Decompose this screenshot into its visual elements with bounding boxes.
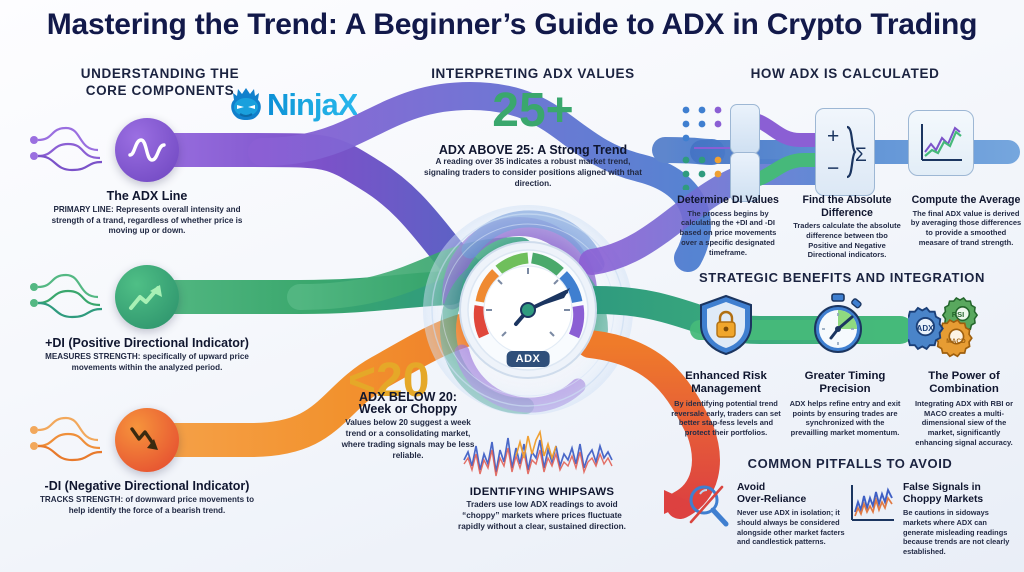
line-chart-box: [908, 110, 974, 176]
plus-di-title: +DI (Positive Directional Indicator): [22, 336, 272, 350]
stopwatch-icon: [809, 292, 867, 356]
section-header-interpreting: INTERPRETING ADX VALUES: [408, 66, 658, 83]
node-plus-di[interactable]: +DI (Positive Directional Indicator) MEA…: [22, 265, 272, 373]
pitfall-2-title-line1: False Signals in: [903, 482, 1016, 494]
volatility-chart-icon: [462, 428, 622, 484]
brand-wordmark: NinjaX: [267, 87, 357, 123]
strategic-benefits-triad: Enhanced Risk Management By identifying …: [670, 366, 1020, 448]
benefit-3-desc: Integrating ADX with RBI or MACO creates…: [908, 399, 1020, 448]
plus-minus-sigma-icon: + − Σ: [821, 119, 869, 185]
benefit-1-title: Enhanced Risk Management: [670, 370, 782, 397]
adx-below-desc: Values below 20 suggest a week trend or …: [338, 418, 478, 462]
plus-di-desc: MEASURES STRENGTH: specifically of upwar…: [22, 352, 272, 373]
benefit-2-title: Greater Timing Precision: [789, 370, 901, 397]
minus-di-title: -DI (Negative Directional Indicator): [22, 479, 272, 493]
pitfall-1-desc: Never use ADX in isolation; it should al…: [737, 508, 854, 547]
line-chart-icon: [916, 120, 966, 166]
gears-icon-wrap: RSI MACD ADX: [908, 292, 980, 363]
gauge-label: ADX: [507, 351, 550, 367]
pitfall-1-title-line1: Avoid: [737, 482, 854, 494]
benefit-risk-management[interactable]: Enhanced Risk Management By identifying …: [670, 366, 782, 448]
calc-step-2-title: Find the Absolute Difference: [791, 194, 903, 219]
plus-di-connectors: [20, 265, 148, 329]
calc-step-2[interactable]: Find the Absolute Difference Traders cal…: [791, 190, 903, 260]
whipsaw-chart: [462, 428, 622, 484]
section-header-strategic-benefits: STRATEGIC BENEFITS AND INTEGRATION: [670, 270, 1014, 286]
shield-lock-icon: [697, 294, 755, 356]
calc-box-top: [730, 104, 760, 154]
benefit-1-desc: By identifying potential trend reversale…: [670, 399, 782, 438]
gear-label-adx: ADX: [917, 324, 935, 333]
adx-line-desc: PRIMARY LINE: Represents overall intensi…: [22, 205, 272, 237]
svg-text:+: +: [827, 125, 839, 148]
calc-step-2-desc: Traders calculate the absolute differenc…: [791, 221, 903, 260]
core-header-line2: CORE COMPONENTS: [40, 83, 280, 100]
benefit-power-of-combination[interactable]: The Power of Combination Integrating ADX…: [908, 366, 1020, 448]
pitfall-2-title-line2: Choppy Markets: [903, 494, 1016, 506]
calc-step-3-desc: The final ADX value is derived by averag…: [910, 209, 1022, 248]
adx-gauge: ADX: [458, 240, 598, 380]
whipsaws-title: IDENTIFYING WHIPSAWS: [452, 486, 632, 498]
node-adx-line[interactable]: The ADX Line PRIMARY LINE: Represents ov…: [22, 118, 272, 237]
benefit-timing-precision[interactable]: Greater Timing Precision ADX helps refin…: [789, 366, 901, 448]
adx-line-connectors: [20, 118, 148, 182]
calc-step-1[interactable]: Determine DI Values The process begins b…: [672, 190, 784, 260]
gear-label-macd: MACD: [946, 338, 966, 345]
adx-above-title: ADX ABOVE 25: A Strong Trend: [408, 143, 658, 157]
page-title: Mastering the Trend: A Beginner’s Guide …: [0, 8, 1024, 42]
calc-step-3-title: Compute the Average: [910, 194, 1022, 207]
node-minus-di[interactable]: -DI (Negative Directional Indicator) TRA…: [22, 408, 272, 516]
calc-step-1-title: Determine DI Values: [672, 194, 784, 207]
adx-below-title-line2: Week or Choppy: [338, 402, 478, 416]
pitfall-2-desc: Be cautions in sidoways markets where AD…: [903, 508, 1016, 556]
benefit-3-title: The Power of Combination: [908, 370, 1020, 397]
section-header-core-components: UNDERSTANDING THE CORE COMPONENTS: [40, 66, 280, 100]
minus-di-connectors: [20, 408, 148, 472]
minus-di-desc: TRACKS STRENGTH: of downward price movem…: [22, 495, 272, 516]
infographic-canvas: Mastering the Trend: A Beginner’s Guide …: [0, 0, 1024, 572]
section-header-pitfalls: COMMON PITFALLS TO AVOID: [700, 456, 1000, 472]
adx-above-value: 25+: [408, 88, 658, 134]
calc-step-3[interactable]: Compute the Average The final ADX value …: [910, 190, 1022, 260]
gears-icon: RSI MACD ADX: [908, 292, 980, 358]
choppy-chart-icon: [848, 482, 896, 528]
calc-steps-triad: Determine DI Values The process begins b…: [672, 190, 1022, 260]
gear-label-rsi: RSI: [952, 310, 965, 319]
plus-minus-sigma-box: + − Σ: [815, 108, 875, 196]
svg-text:Σ: Σ: [855, 145, 867, 166]
calc-step-1-desc: The process begins by calculating the +D…: [672, 209, 784, 258]
stopwatch-icon-wrap: [809, 292, 867, 361]
shield-lock-icon-wrap: [697, 294, 755, 361]
whipsaws-desc: Traders use low ADX readings to avoid “c…: [458, 500, 626, 533]
benefit-2-desc: ADX helps refine entry and exit points b…: [789, 399, 901, 438]
adx-above-desc: A reading over 35 indicates a robust mar…: [418, 157, 648, 190]
pitfall-over-reliance[interactable]: Avoid Over-Reliance Never use ADX in iso…: [686, 482, 854, 547]
pitfall-1-title-line2: Over-Reliance: [737, 494, 854, 506]
core-header-line1: UNDERSTANDING THE: [40, 66, 280, 83]
section-header-how-calculated: HOW ADX IS CALCULATED: [680, 66, 1010, 83]
svg-text:−: −: [827, 157, 839, 180]
adx-line-title: The ADX Line: [22, 189, 272, 203]
pitfall-false-signals[interactable]: False Signals in Choppy Markets Be cauti…: [848, 482, 1016, 557]
magnifier-crossed-icon: [686, 482, 730, 528]
